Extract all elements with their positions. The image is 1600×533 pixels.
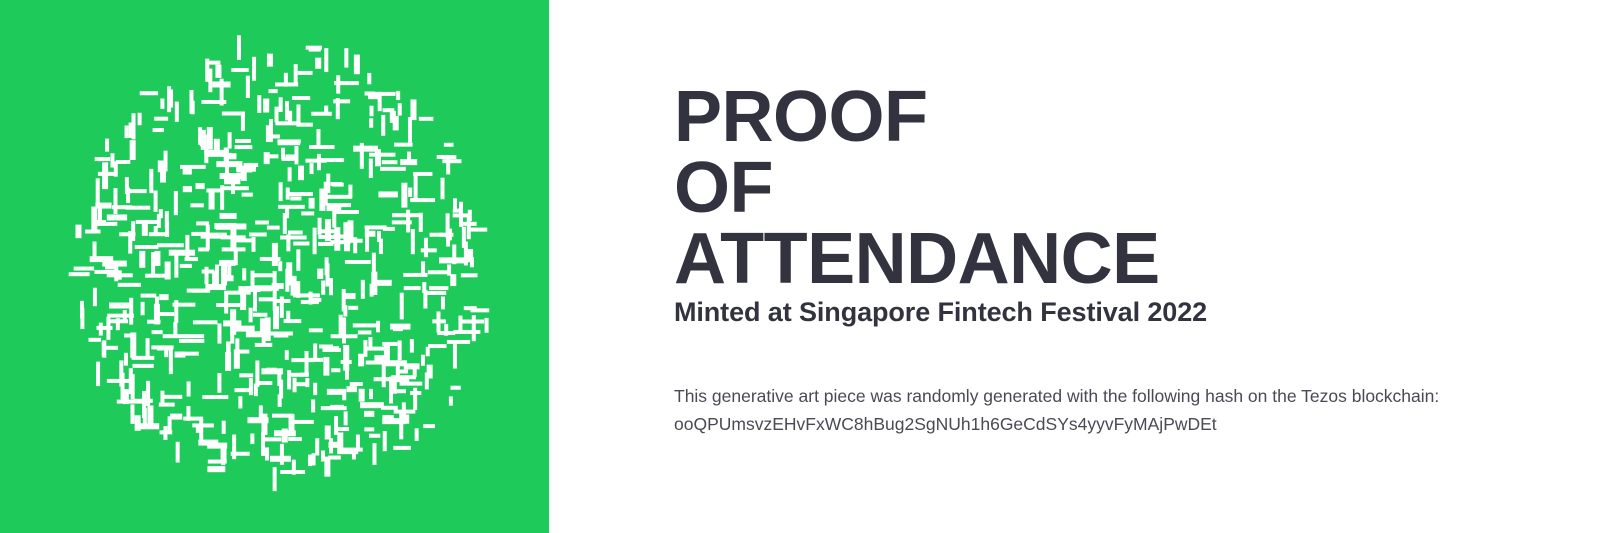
art-stroke bbox=[353, 323, 376, 327]
art-stroke bbox=[291, 358, 314, 362]
art-stroke bbox=[174, 191, 178, 215]
art-stroke bbox=[217, 323, 221, 343]
art-stroke bbox=[464, 242, 468, 266]
art-stroke bbox=[275, 82, 298, 86]
art-stroke bbox=[367, 73, 371, 84]
art-stroke bbox=[329, 278, 333, 295]
art-stroke bbox=[131, 374, 135, 399]
art-stroke bbox=[330, 240, 350, 244]
art-stroke bbox=[398, 103, 402, 115]
art-stroke bbox=[316, 129, 320, 148]
art-stroke bbox=[288, 437, 302, 441]
art-stroke bbox=[152, 330, 163, 334]
art-stroke bbox=[294, 146, 298, 164]
art-stroke bbox=[192, 289, 210, 293]
art-stroke bbox=[269, 332, 293, 336]
art-stroke bbox=[140, 91, 158, 95]
art-stroke bbox=[165, 211, 169, 229]
art-stroke bbox=[255, 360, 259, 386]
art-stroke bbox=[220, 185, 224, 209]
art-stroke bbox=[348, 306, 358, 310]
art-stroke bbox=[242, 268, 246, 280]
art-stroke bbox=[283, 213, 287, 234]
art-stroke bbox=[442, 159, 461, 163]
art-stroke bbox=[280, 444, 284, 465]
art-stroke bbox=[321, 406, 347, 410]
art-stroke bbox=[353, 146, 378, 152]
art-stroke bbox=[135, 415, 141, 430]
art-stroke bbox=[185, 257, 198, 261]
art-stroke bbox=[331, 368, 340, 372]
art-stroke bbox=[419, 213, 423, 232]
art-stroke bbox=[348, 185, 352, 198]
art-stroke bbox=[273, 306, 279, 329]
art-stroke bbox=[324, 182, 328, 206]
art-stroke bbox=[325, 426, 331, 440]
art-stroke bbox=[394, 143, 413, 147]
art-stroke bbox=[252, 237, 256, 252]
art-stroke bbox=[365, 92, 376, 96]
art-stroke bbox=[195, 183, 204, 189]
art-stroke bbox=[382, 418, 400, 424]
art-stroke bbox=[441, 178, 445, 200]
art-stroke bbox=[350, 382, 363, 386]
art-stroke bbox=[139, 251, 145, 268]
art-stroke bbox=[175, 102, 179, 122]
art-stroke bbox=[249, 233, 267, 237]
art-stroke bbox=[272, 283, 284, 289]
art-stroke bbox=[453, 344, 457, 368]
art-stroke bbox=[315, 58, 321, 69]
generative-art-canvas bbox=[0, 0, 549, 533]
art-stroke bbox=[325, 257, 329, 275]
art-stroke bbox=[404, 286, 421, 290]
art-stroke bbox=[453, 213, 472, 217]
art-stroke bbox=[294, 64, 298, 82]
art-stroke bbox=[135, 245, 159, 249]
art-stroke bbox=[220, 213, 237, 219]
art-stroke bbox=[448, 229, 452, 241]
art-stroke bbox=[149, 220, 161, 224]
art-stroke bbox=[75, 225, 81, 239]
art-stroke bbox=[284, 319, 302, 323]
art-stroke bbox=[180, 165, 206, 169]
art-stroke bbox=[403, 273, 427, 277]
art-stroke bbox=[380, 167, 406, 171]
art-stroke bbox=[113, 188, 117, 214]
art-stroke bbox=[169, 89, 173, 107]
art-stroke bbox=[187, 381, 191, 396]
art-stroke bbox=[382, 342, 397, 346]
art-stroke bbox=[95, 222, 117, 226]
art-stroke bbox=[369, 118, 373, 127]
art-stroke bbox=[279, 97, 283, 112]
art-stroke bbox=[321, 451, 325, 462]
art-stroke bbox=[264, 152, 270, 164]
art-stroke bbox=[317, 154, 321, 170]
art-stroke bbox=[459, 222, 477, 226]
art-stroke bbox=[200, 130, 206, 147]
art-stroke bbox=[237, 35, 241, 60]
art-stroke bbox=[288, 111, 292, 122]
art-stroke bbox=[450, 274, 456, 286]
art-stroke bbox=[126, 188, 130, 203]
art-stroke bbox=[394, 410, 416, 414]
art-stroke bbox=[327, 389, 346, 395]
art-stroke bbox=[341, 448, 363, 452]
art-stroke bbox=[134, 399, 153, 403]
art-stroke bbox=[378, 191, 397, 197]
art-stroke bbox=[375, 149, 381, 166]
art-stroke bbox=[249, 378, 253, 395]
art-stroke bbox=[207, 466, 225, 472]
art-stroke bbox=[168, 416, 172, 432]
art-stroke bbox=[366, 361, 389, 365]
art-stroke bbox=[372, 253, 376, 277]
art-stroke bbox=[419, 117, 434, 121]
art-stroke bbox=[305, 378, 309, 387]
art-stroke bbox=[202, 395, 228, 399]
art-stroke bbox=[107, 314, 134, 318]
art-stroke bbox=[232, 435, 236, 460]
art-stroke bbox=[151, 252, 155, 275]
art-stroke bbox=[413, 363, 417, 377]
art-stroke bbox=[321, 281, 325, 295]
art-stroke bbox=[437, 331, 455, 335]
art-stroke bbox=[280, 297, 284, 318]
art-stroke bbox=[329, 346, 339, 350]
art-stroke bbox=[69, 272, 90, 276]
art-stroke bbox=[266, 368, 277, 372]
art-stroke bbox=[124, 353, 128, 366]
art-stroke bbox=[453, 330, 480, 334]
art-stroke bbox=[428, 270, 451, 274]
art-stroke bbox=[159, 403, 175, 407]
art-stroke bbox=[220, 79, 224, 106]
art-stroke bbox=[377, 231, 381, 242]
art-stroke bbox=[180, 264, 192, 268]
art-stroke bbox=[363, 340, 367, 357]
art-stroke bbox=[129, 298, 133, 325]
art-stroke bbox=[296, 123, 312, 127]
art-stroke bbox=[196, 424, 200, 433]
art-stroke bbox=[309, 328, 323, 332]
art-stroke bbox=[267, 226, 280, 230]
title-line-3: ATTENDANCE bbox=[674, 224, 1574, 295]
subtitle: Minted at Singapore Fintech Festival 202… bbox=[674, 297, 1207, 328]
art-stroke bbox=[287, 370, 291, 389]
art-stroke bbox=[300, 373, 309, 377]
art-stroke bbox=[170, 414, 182, 420]
art-stroke bbox=[265, 447, 269, 460]
art-stroke bbox=[368, 337, 372, 350]
art-stroke bbox=[413, 172, 432, 176]
art-stroke bbox=[414, 176, 418, 201]
art-stroke bbox=[439, 257, 465, 263]
art-stroke bbox=[368, 95, 380, 99]
art-stroke bbox=[269, 89, 278, 93]
art-stroke bbox=[413, 388, 417, 410]
art-stroke bbox=[154, 251, 160, 266]
art-stroke bbox=[272, 414, 294, 418]
art-stroke bbox=[358, 330, 372, 334]
art-stroke bbox=[126, 206, 151, 210]
art-stroke bbox=[231, 178, 235, 194]
art-stroke bbox=[277, 139, 300, 143]
art-stroke bbox=[309, 145, 334, 149]
art-stroke bbox=[391, 375, 416, 379]
art-stroke bbox=[467, 249, 473, 262]
art-stroke bbox=[158, 160, 164, 172]
art-stroke bbox=[224, 186, 249, 190]
art-stroke bbox=[234, 388, 251, 392]
art-stroke bbox=[343, 305, 347, 316]
art-stroke bbox=[452, 244, 456, 264]
art-stroke bbox=[216, 161, 242, 167]
art-stroke bbox=[331, 182, 342, 186]
art-stroke bbox=[342, 317, 346, 343]
art-stroke bbox=[93, 288, 97, 306]
art-stroke bbox=[178, 352, 199, 356]
art-stroke bbox=[154, 117, 168, 121]
art-stroke bbox=[352, 449, 356, 459]
art-stroke bbox=[326, 195, 352, 199]
art-stroke bbox=[252, 273, 275, 277]
art-stroke bbox=[96, 362, 100, 386]
art-stroke bbox=[309, 198, 315, 209]
art-stroke bbox=[183, 169, 192, 175]
art-stroke bbox=[130, 404, 134, 424]
art-stroke bbox=[259, 405, 263, 420]
art-stroke bbox=[372, 280, 392, 286]
art-stroke bbox=[328, 456, 341, 460]
art-stroke bbox=[325, 219, 331, 241]
art-stroke bbox=[154, 304, 160, 325]
art-stroke bbox=[266, 125, 270, 142]
art-stroke bbox=[236, 350, 249, 354]
art-stroke bbox=[286, 262, 292, 285]
art-stroke bbox=[426, 291, 446, 295]
art-stroke bbox=[96, 178, 100, 204]
art-stroke bbox=[467, 217, 471, 239]
art-stroke bbox=[290, 196, 301, 200]
art-stroke bbox=[163, 426, 167, 440]
art-stroke bbox=[183, 417, 203, 421]
art-stroke bbox=[396, 91, 400, 100]
art-stroke bbox=[74, 267, 94, 271]
art-stroke bbox=[401, 183, 407, 208]
art-stroke bbox=[263, 437, 282, 441]
art-stroke bbox=[95, 157, 110, 161]
art-stroke bbox=[343, 222, 347, 240]
art-stroke bbox=[369, 153, 395, 157]
art-stroke bbox=[176, 442, 180, 463]
art-stroke bbox=[246, 76, 250, 98]
art-stroke bbox=[331, 334, 358, 338]
art-stroke bbox=[214, 223, 235, 229]
art-stroke bbox=[347, 386, 358, 392]
art-stroke bbox=[174, 253, 178, 277]
art-stroke bbox=[149, 232, 167, 236]
art-stroke bbox=[441, 297, 445, 310]
art-stroke bbox=[267, 54, 273, 67]
art-stroke bbox=[165, 262, 171, 280]
art-stroke bbox=[318, 218, 322, 235]
art-stroke bbox=[191, 101, 195, 115]
art-stroke bbox=[205, 267, 209, 284]
art-stroke bbox=[250, 434, 254, 445]
art-stroke bbox=[313, 383, 317, 395]
art-stroke bbox=[309, 48, 321, 52]
art-stroke bbox=[160, 98, 164, 108]
art-stroke bbox=[382, 361, 386, 387]
art-stroke bbox=[108, 319, 128, 323]
art-stroke bbox=[312, 453, 316, 465]
art-stroke bbox=[252, 57, 256, 81]
art-stroke bbox=[231, 68, 248, 72]
art-stroke bbox=[432, 319, 445, 323]
art-stroke bbox=[207, 127, 213, 150]
art-stroke bbox=[429, 286, 448, 290]
art-stroke bbox=[272, 243, 278, 266]
art-stroke bbox=[365, 231, 376, 237]
art-stroke bbox=[118, 270, 122, 279]
art-stroke bbox=[110, 153, 114, 167]
page-title: PROOF OF ATTENDANCE bbox=[674, 82, 1574, 295]
art-stroke bbox=[374, 355, 386, 361]
art-stroke bbox=[106, 346, 118, 350]
art-stroke bbox=[107, 379, 130, 383]
art-stroke bbox=[207, 61, 220, 65]
art-stroke bbox=[376, 321, 380, 332]
art-stroke bbox=[333, 99, 350, 103]
art-stroke bbox=[364, 427, 374, 431]
art-stroke bbox=[255, 220, 269, 224]
art-stroke bbox=[80, 301, 84, 318]
art-stroke bbox=[334, 227, 340, 251]
art-stroke bbox=[88, 338, 101, 342]
art-stroke bbox=[164, 151, 168, 172]
art-stroke bbox=[262, 334, 266, 345]
art-stroke bbox=[460, 320, 484, 324]
art-stroke bbox=[334, 416, 338, 435]
art-stroke bbox=[282, 157, 294, 161]
art-stroke bbox=[102, 162, 108, 189]
art-stroke bbox=[125, 125, 129, 138]
art-stroke bbox=[311, 112, 331, 116]
art-stroke bbox=[411, 229, 415, 254]
art-stroke bbox=[288, 167, 292, 181]
art-stroke bbox=[238, 396, 242, 408]
art-stroke bbox=[159, 294, 168, 300]
art-stroke bbox=[138, 113, 142, 125]
art-stroke bbox=[450, 386, 460, 390]
art-stroke bbox=[381, 406, 398, 410]
art-stroke bbox=[179, 339, 204, 343]
art-stroke bbox=[128, 231, 132, 254]
art-stroke bbox=[159, 209, 163, 218]
art-stroke bbox=[305, 351, 309, 374]
description-block: This generative art piece was randomly g… bbox=[674, 382, 1504, 439]
art-stroke bbox=[235, 145, 253, 149]
art-stroke bbox=[344, 48, 348, 67]
title-line-2: OF bbox=[674, 153, 1574, 224]
art-stroke bbox=[358, 354, 364, 367]
art-stroke bbox=[337, 432, 343, 453]
art-stroke bbox=[324, 48, 328, 72]
art-stroke bbox=[405, 414, 409, 423]
art-stroke bbox=[207, 443, 227, 449]
art-stroke bbox=[324, 457, 330, 477]
art-stroke bbox=[169, 250, 195, 256]
art-stroke bbox=[147, 406, 153, 428]
art-stroke bbox=[421, 355, 425, 366]
art-stroke bbox=[428, 344, 446, 348]
art-stroke bbox=[107, 214, 127, 220]
art-stroke bbox=[312, 298, 322, 302]
generative-art-panel bbox=[0, 0, 549, 533]
art-stroke bbox=[400, 293, 404, 320]
art-stroke bbox=[190, 203, 203, 207]
art-stroke bbox=[220, 173, 242, 179]
art-stroke bbox=[286, 192, 313, 196]
art-stroke bbox=[369, 434, 380, 438]
art-stroke bbox=[118, 283, 141, 287]
art-stroke bbox=[143, 408, 147, 429]
art-stroke bbox=[345, 260, 371, 264]
art-stroke bbox=[169, 349, 173, 374]
art-stroke bbox=[279, 182, 283, 201]
art-stroke bbox=[381, 115, 385, 136]
art-stroke bbox=[109, 303, 129, 309]
art-stroke bbox=[407, 152, 411, 161]
art-stroke bbox=[257, 95, 261, 113]
art-stroke bbox=[422, 282, 426, 293]
art-stroke bbox=[123, 389, 129, 404]
art-stroke bbox=[275, 107, 279, 123]
art-stroke bbox=[253, 286, 257, 312]
text-panel: PROOF OF ATTENDANCE Minted at Singapore … bbox=[549, 0, 1600, 533]
art-stroke bbox=[398, 340, 402, 360]
art-stroke bbox=[424, 238, 428, 257]
art-stroke bbox=[369, 159, 373, 178]
art-stroke bbox=[288, 230, 303, 234]
art-stroke bbox=[223, 320, 241, 326]
art-stroke bbox=[389, 377, 393, 404]
art-stroke bbox=[102, 342, 106, 357]
art-stroke bbox=[350, 239, 363, 243]
art-stroke bbox=[327, 203, 351, 207]
art-stroke bbox=[393, 116, 399, 131]
art-stroke bbox=[410, 339, 414, 353]
art-stroke bbox=[141, 302, 145, 315]
art-stroke bbox=[298, 166, 304, 181]
art-stroke bbox=[157, 243, 184, 247]
art-stroke bbox=[313, 343, 317, 358]
art-stroke bbox=[226, 341, 230, 361]
art-stroke bbox=[234, 238, 252, 242]
art-stroke bbox=[395, 389, 406, 393]
art-stroke bbox=[444, 143, 454, 147]
art-stroke bbox=[132, 356, 155, 360]
art-stroke bbox=[293, 378, 297, 392]
art-stroke bbox=[280, 470, 305, 474]
art-stroke bbox=[400, 382, 423, 386]
art-stroke bbox=[173, 322, 177, 337]
art-stroke bbox=[293, 420, 314, 424]
art-stroke bbox=[268, 134, 280, 138]
art-stroke bbox=[408, 117, 412, 143]
